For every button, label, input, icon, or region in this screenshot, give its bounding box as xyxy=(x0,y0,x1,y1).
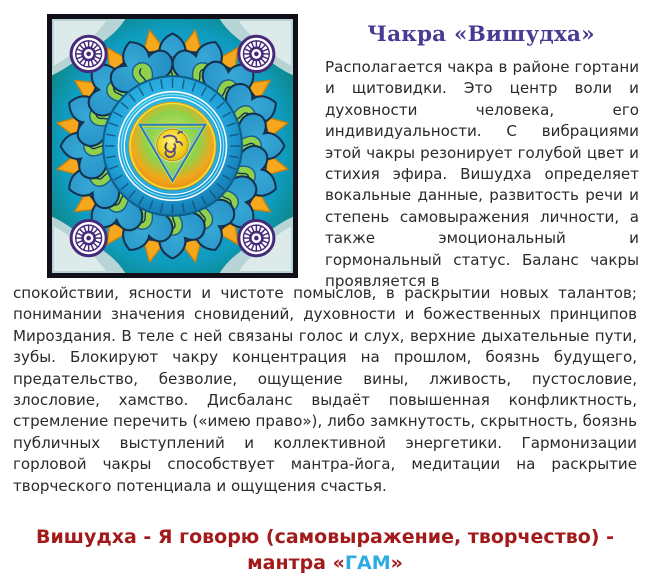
vishuddha-yantra-svg xyxy=(52,19,293,273)
page-title: Чакра «Вишудха» xyxy=(325,22,637,47)
mantra-footer: Вишудха - Я говорю (самовыражение, творч… xyxy=(13,524,637,576)
body-paragraph: спокойствии, ясности и чистоте помыслов,… xyxy=(13,283,637,497)
page-root: Чакра «Вишудха» Располагается чакра в ра… xyxy=(0,0,647,588)
illustration-canvas xyxy=(52,19,293,273)
illustration-frame xyxy=(47,14,298,278)
mantra-line-2: мантра «ГАМ» xyxy=(13,550,637,576)
mantra-line-1: Вишудха - Я говорю (самовыражение, творч… xyxy=(13,524,637,550)
mantra-prefix: мантра « xyxy=(247,552,345,574)
mantra-suffix: » xyxy=(391,552,403,574)
chakra-illustration xyxy=(47,14,298,278)
intro-paragraph: Располагается чакра в районе гортани и щ… xyxy=(325,57,639,292)
mantra-syllable: ГАМ xyxy=(345,552,391,574)
